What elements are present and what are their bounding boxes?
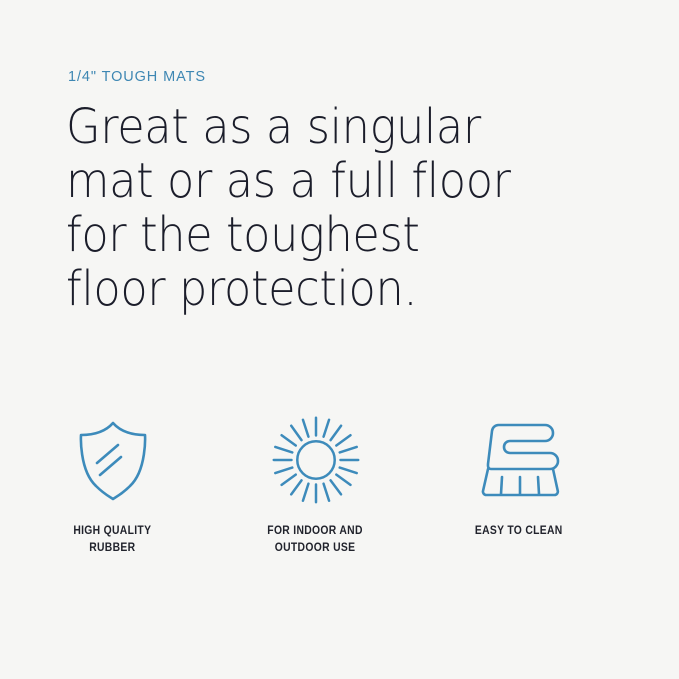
feature-list: HIGH QUALITY RUBBER: [0, 408, 679, 556]
caption-line-1: HIGH QUALITY: [74, 523, 152, 540]
eyebrow-label: 1/4" TOUGH MATS: [68, 69, 206, 85]
headline-line-1: Great as a singular: [66, 100, 559, 154]
feature-item-indoor-outdoor: FOR INDOOR AND OUTDOOR USE: [214, 408, 417, 556]
feature-caption: EASY TO CLEAN: [475, 523, 563, 540]
caption-line-1: EASY TO CLEAN: [475, 523, 563, 540]
feature-caption: HIGH QUALITY RUBBER: [74, 523, 152, 556]
headline: Great as a singular mat or as a full flo…: [66, 100, 559, 316]
caption-line-1: FOR INDOOR AND: [268, 523, 363, 540]
headline-line-2: mat or as a full floor: [66, 154, 559, 208]
feature-item-high-quality-rubber: HIGH QUALITY RUBBER: [11, 408, 214, 556]
sun-icon: [268, 408, 364, 512]
feature-item-easy-to-clean: EASY TO CLEAN: [417, 408, 620, 556]
feature-caption: FOR INDOOR AND OUTDOOR USE: [268, 523, 363, 556]
scrub-brush-icon: [472, 408, 566, 512]
caption-line-2: RUBBER: [74, 540, 152, 557]
caption-line-2: OUTDOOR USE: [268, 540, 363, 557]
promo-banner: 1/4" TOUGH MATS Great as a singular mat …: [0, 0, 679, 679]
headline-line-4: floor protection.: [66, 262, 559, 316]
shield-icon: [74, 408, 152, 512]
headline-line-3: for the toughest: [66, 208, 559, 262]
